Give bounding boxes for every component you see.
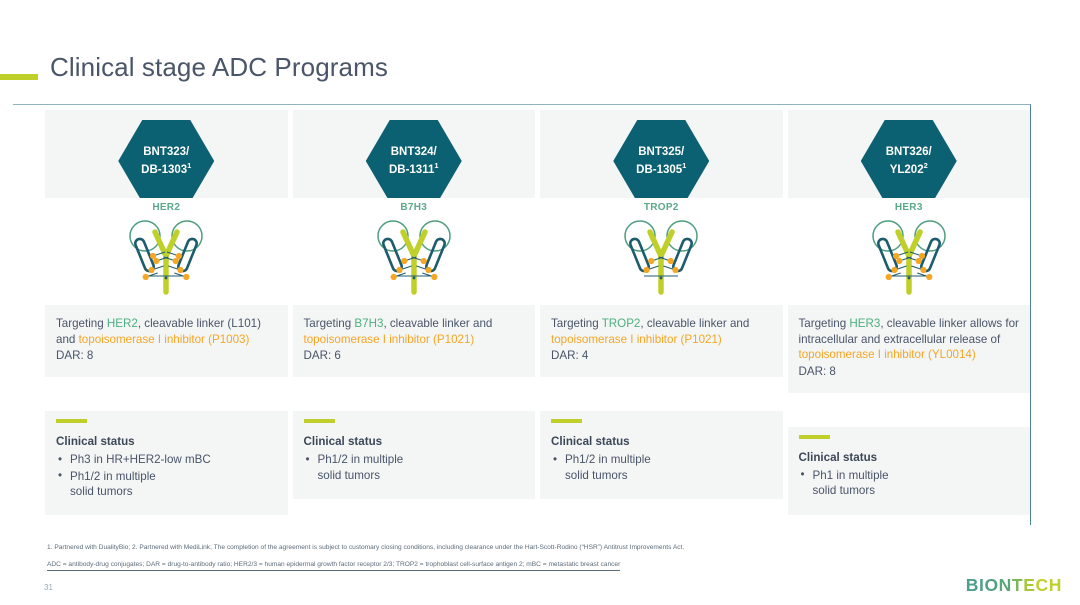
description-text: Targeting <box>551 317 602 330</box>
description-paragraph: Targeting HER3, cleavable linker allows … <box>799 316 1020 363</box>
antibody-icon <box>614 214 708 298</box>
antibody-icon-area: HER2 <box>45 198 288 305</box>
program-code-label: BNT326/ YL2022 <box>886 145 932 177</box>
description-block: Targeting TROP2, cleavable linker and to… <box>540 305 783 377</box>
antibody-icon <box>367 214 461 298</box>
payload-name: topoisomerase I inhibitor (P1021) <box>304 333 475 346</box>
clinical-status-block: Clinical status Ph1 in multiple solid tu… <box>788 427 1031 515</box>
payload-name: topoisomerase I inhibitor (P1003) <box>79 333 250 346</box>
description-text: , cleavable linker and <box>383 317 492 330</box>
status-accent-rule <box>56 419 87 423</box>
target-name: HER3 <box>849 317 880 330</box>
footnote-line-2: ADC = antibody-drug conjugates; DAR = dr… <box>47 560 620 572</box>
program-code-label: BNT324/ DB-13111 <box>389 145 439 177</box>
clinical-status-block: Clinical status Ph1/2 in multiple solid … <box>540 411 783 499</box>
description-paragraph: Targeting B7H3, cleavable linker and top… <box>304 316 525 347</box>
clinical-status-block: Clinical status Ph3 in HR+HER2-low mBCPh… <box>45 411 288 515</box>
page-title: Clinical stage ADC Programs <box>50 52 388 83</box>
program-badge-band: BNT323/ DB-13031 <box>45 110 288 198</box>
footnote-marker: 1 <box>682 161 686 170</box>
description-text: Targeting <box>56 317 107 330</box>
target-name: TROP2 <box>602 317 641 330</box>
target-label: TROP2 <box>540 202 783 213</box>
clinical-status-list: Ph1 in multiple solid tumors <box>799 468 1020 499</box>
program-hexagon-badge[interactable]: BNT326/ YL2022 <box>861 120 957 202</box>
status-spacer <box>788 393 1031 427</box>
program-columns: BNT323/ DB-13031 HER2 Targeting HER2, cl… <box>45 110 1030 510</box>
status-spacer <box>45 377 288 411</box>
program-column: BNT325/ DB-13051 TROP2 Targeting TROP2, … <box>540 110 783 510</box>
status-spacer <box>293 377 536 411</box>
clinical-status-list: Ph1/2 in multiple solid tumors <box>304 452 525 483</box>
footnote-marker: 1 <box>187 161 191 170</box>
program-code-label: BNT325/ DB-13051 <box>636 145 686 177</box>
clinical-status-list: Ph1/2 in multiple solid tumors <box>551 452 772 483</box>
program-column: BNT326/ YL2022 HER3 Targeting HER3, clea… <box>788 110 1031 510</box>
clinical-status-title: Clinical status <box>799 451 1020 464</box>
payload-name: topoisomerase I inhibitor (YL0014) <box>799 348 976 361</box>
program-hexagon-badge[interactable]: BNT323/ DB-13031 <box>118 120 214 202</box>
target-name: HER2 <box>107 317 138 330</box>
program-column: BNT324/ DB-13111 B7H3 Targeting B7H3, cl… <box>293 110 536 510</box>
target-label: B7H3 <box>293 202 536 213</box>
title-accent-bar <box>0 74 38 80</box>
status-accent-rule <box>304 419 335 423</box>
program-column: BNT323/ DB-13031 HER2 Targeting HER2, cl… <box>45 110 288 510</box>
description-paragraph: Targeting HER2, cleavable linker (L101) … <box>56 316 277 347</box>
status-bullet: Ph3 in HR+HER2-low mBC <box>56 452 277 468</box>
dar-value: DAR: 8 <box>799 364 1020 380</box>
page-number: 31 <box>44 583 53 592</box>
antibody-icon <box>119 214 213 298</box>
description-block: Targeting HER2, cleavable linker (L101) … <box>45 305 288 377</box>
clinical-status-block: Clinical status Ph1/2 in multiple solid … <box>293 411 536 499</box>
antibody-icon-area: HER3 <box>788 198 1031 305</box>
status-bullet: Ph1/2 in multiple solid tumors <box>551 452 772 483</box>
description-block: Targeting B7H3, cleavable linker and top… <box>293 305 536 377</box>
antibody-icon <box>862 214 956 298</box>
status-bullet: Ph1 in multiple solid tumors <box>799 468 1020 499</box>
payload-name: topoisomerase I inhibitor (P1021) <box>551 333 722 346</box>
dar-value: DAR: 8 <box>56 348 277 364</box>
footnote-marker: 1 <box>434 161 438 170</box>
clinical-status-title: Clinical status <box>56 435 277 448</box>
status-spacer <box>540 377 783 411</box>
description-text: Targeting <box>304 317 355 330</box>
dar-value: DAR: 6 <box>304 348 525 364</box>
program-badge-band: BNT324/ DB-13111 <box>293 110 536 198</box>
antibody-icon-area: B7H3 <box>293 198 536 305</box>
target-name: B7H3 <box>354 317 383 330</box>
status-accent-rule <box>799 435 830 439</box>
status-accent-rule <box>551 419 582 423</box>
description-text: Targeting <box>799 317 850 330</box>
status-bullet: Ph1/2 in multiple solid tumors <box>304 452 525 483</box>
target-label: HER2 <box>45 202 288 213</box>
footnote-line-1: 1. Partnered with DualityBio; 2. Partner… <box>47 543 987 553</box>
dar-value: DAR: 4 <box>551 348 772 364</box>
footnotes: 1. Partnered with DualityBio; 2. Partner… <box>47 543 987 571</box>
status-bullet: Ph1/2 in multiple solid tumors <box>56 469 277 500</box>
clinical-status-title: Clinical status <box>551 435 772 448</box>
biontech-logo: BIONTECH <box>966 575 1062 596</box>
program-code-label: BNT323/ DB-13031 <box>141 145 191 177</box>
program-hexagon-badge[interactable]: BNT325/ DB-13051 <box>613 120 709 202</box>
program-badge-band: BNT326/ YL2022 <box>788 110 1031 198</box>
clinical-status-title: Clinical status <box>304 435 525 448</box>
footnote-marker: 2 <box>924 161 928 170</box>
target-label: HER3 <box>788 202 1031 213</box>
description-block: Targeting HER3, cleavable linker allows … <box>788 305 1031 393</box>
clinical-status-list: Ph3 in HR+HER2-low mBCPh1/2 in multiple … <box>56 452 277 500</box>
antibody-icon-area: TROP2 <box>540 198 783 305</box>
program-hexagon-badge[interactable]: BNT324/ DB-13111 <box>366 120 462 202</box>
program-badge-band: BNT325/ DB-13051 <box>540 110 783 198</box>
description-text: , cleavable linker and <box>640 317 749 330</box>
description-paragraph: Targeting TROP2, cleavable linker and to… <box>551 316 772 347</box>
